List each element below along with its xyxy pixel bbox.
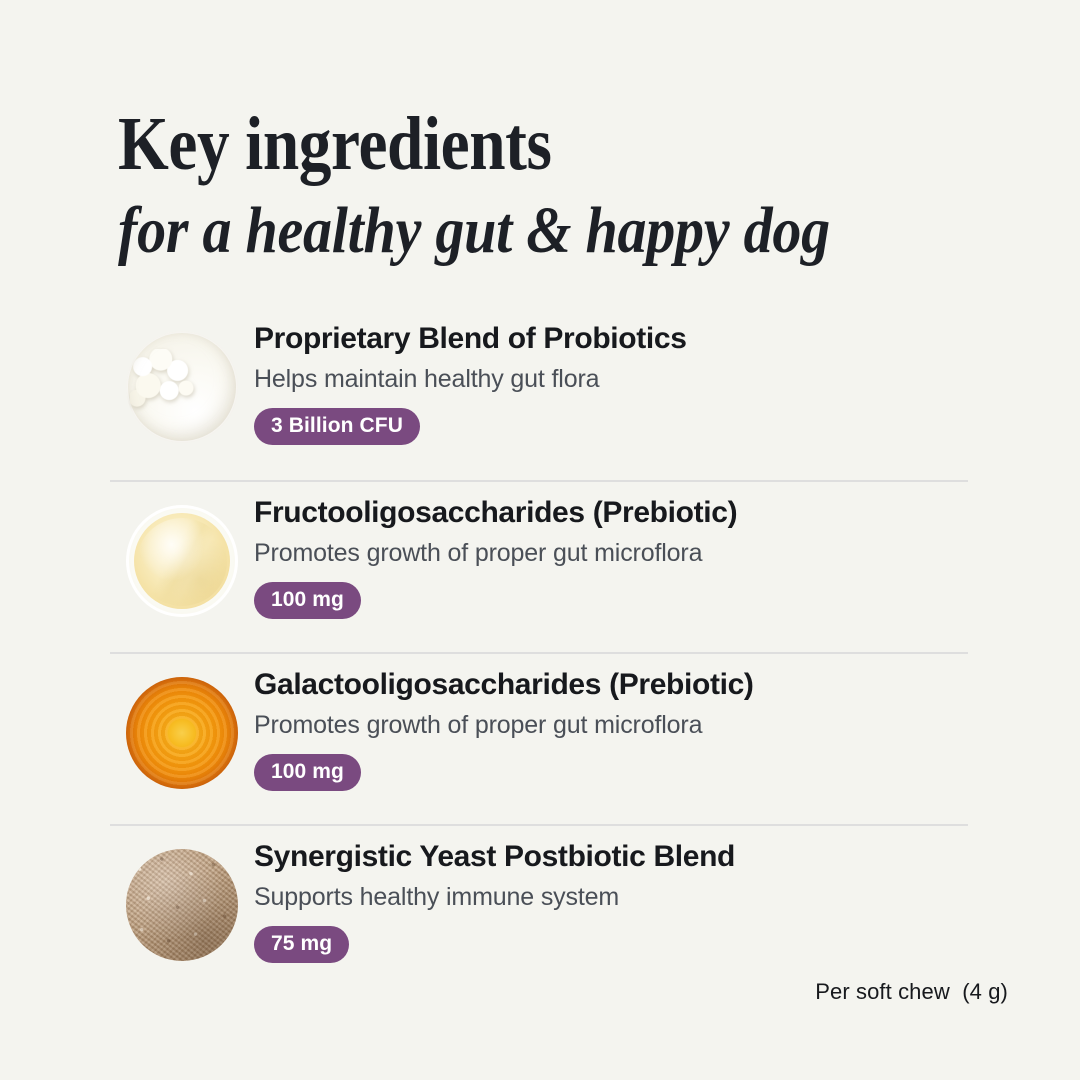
fos-cream-photo xyxy=(126,505,238,617)
ingredient-row: Galactooligosaccharides (Prebiotic) Prom… xyxy=(110,652,968,824)
ingredient-description: Promotes growth of proper gut microflora xyxy=(254,710,968,740)
ingredient-thumbnail-wrap xyxy=(110,308,254,460)
ingredient-name: Synergistic Yeast Postbiotic Blend xyxy=(254,840,968,874)
key-ingredients-infographic: Key ingredients for a healthy gut & happ… xyxy=(0,0,1080,1080)
ingredient-name: Proprietary Blend of Probiotics xyxy=(254,322,968,356)
ingredient-text: Galactooligosaccharides (Prebiotic) Prom… xyxy=(254,654,968,791)
ingredient-row: Synergistic Yeast Postbiotic Blend Suppo… xyxy=(110,824,968,996)
ingredient-description: Promotes growth of proper gut microflora xyxy=(254,538,968,568)
ingredient-list: Proprietary Blend of Probiotics Helps ma… xyxy=(110,308,968,996)
ingredient-amount-badge: 3 Billion CFU xyxy=(254,408,420,446)
ingredient-thumbnail-wrap xyxy=(110,482,254,634)
ingredient-row: Proprietary Blend of Probiotics Helps ma… xyxy=(110,308,968,480)
ingredient-amount-badge: 100 mg xyxy=(254,754,361,792)
ingredient-thumbnail-wrap xyxy=(110,826,254,978)
ingredient-text: Proprietary Blend of Probiotics Helps ma… xyxy=(254,308,968,445)
ingredient-name: Galactooligosaccharides (Prebiotic) xyxy=(254,668,968,702)
ingredient-text: Fructooligosaccharides (Prebiotic) Promo… xyxy=(254,482,968,619)
ingredient-description: Helps maintain healthy gut flora xyxy=(254,364,968,394)
ingredient-text: Synergistic Yeast Postbiotic Blend Suppo… xyxy=(254,826,968,963)
ingredient-amount-badge: 100 mg xyxy=(254,582,361,620)
ingredient-amount-badge: 75 mg xyxy=(254,926,349,964)
probiotic-cream-photo xyxy=(126,331,238,443)
ingredient-name: Fructooligosaccharides (Prebiotic) xyxy=(254,496,968,530)
serving-size-note: Per soft chew (4 g) xyxy=(815,979,1008,1005)
ingredient-thumbnail-wrap xyxy=(110,654,254,806)
page-subtitle: for a healthy gut & happy dog xyxy=(118,196,910,265)
page-title: Key ingredients xyxy=(118,106,892,184)
golden-beet-slice-photo xyxy=(126,677,238,789)
page-heading: Key ingredients for a healthy gut & happ… xyxy=(118,106,1018,265)
ingredient-row: Fructooligosaccharides (Prebiotic) Promo… xyxy=(110,480,968,652)
ingredient-description: Supports healthy immune system xyxy=(254,882,968,912)
yeast-powder-photo xyxy=(126,849,238,961)
